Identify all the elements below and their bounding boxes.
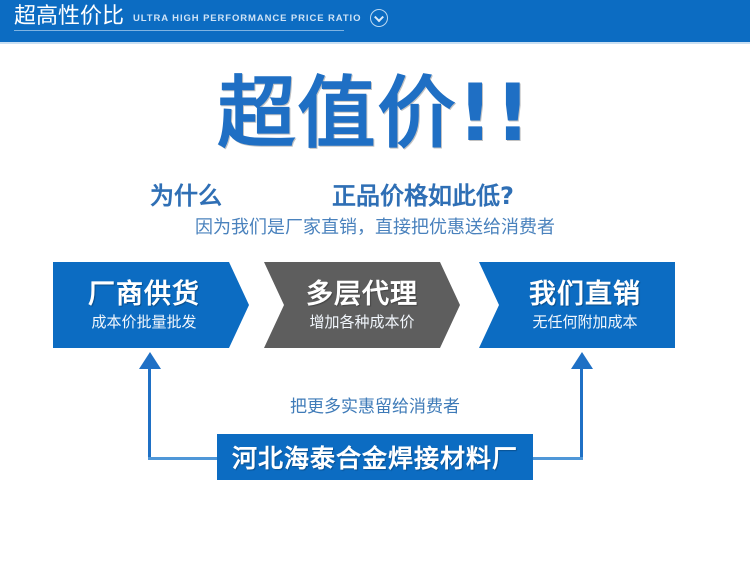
flow-step-subtitle: 无任何附加成本 [532, 312, 637, 332]
tagline-text: 把更多实惠留给消费者 [0, 392, 750, 417]
company-name: 河北海泰合金焊接材料厂 [232, 439, 518, 475]
flow-diagram: 厂商供货 成本价批量批发 多层代理 增加各种成本价 我们直销 无任何附加成本 [0, 262, 750, 348]
question-right-text: 正品价格如此低? [332, 176, 514, 211]
header-title-english: ULTRA HIGH PERFORMANCE PRICE RATIO [133, 13, 361, 29]
flow-step-supplier: 厂商供货 成本价批量批发 [53, 262, 249, 348]
header-bottom-divider [0, 42, 750, 44]
header-title-chinese: 超高性价比 [14, 5, 124, 29]
flow-step-title: 厂商供货 [88, 279, 200, 311]
flow-step-title: 多层代理 [306, 279, 418, 311]
flow-step-title: 我们直销 [529, 279, 641, 311]
connector-arrow-left-icon [139, 352, 161, 369]
header-title-group: 超高性价比 ULTRA HIGH PERFORMANCE PRICE RATIO [14, 5, 388, 29]
header-bar: 超高性价比 ULTRA HIGH PERFORMANCE PRICE RATIO [0, 0, 750, 42]
flow-step-subtitle: 增加各种成本价 [309, 312, 414, 332]
flow-step-agents: 多层代理 增加各种成本价 [264, 262, 460, 348]
page-title: 超值价!! [0, 72, 750, 156]
flow-step-subtitle: 成本价批量批发 [91, 312, 196, 332]
question-row: 为什么 正品价格如此低? [150, 176, 610, 211]
header-underline [14, 30, 344, 31]
answer-text: 因为我们是厂家直销，直接把优惠送给消费者 [0, 213, 750, 239]
chevron-down-circle-icon[interactable] [370, 9, 388, 27]
connector-arrow-right-icon [571, 352, 593, 369]
company-name-bar: 河北海泰合金焊接材料厂 [217, 434, 533, 480]
flow-step-direct-sales: 我们直销 无任何附加成本 [479, 262, 675, 348]
question-left-text: 为什么 [150, 176, 222, 211]
